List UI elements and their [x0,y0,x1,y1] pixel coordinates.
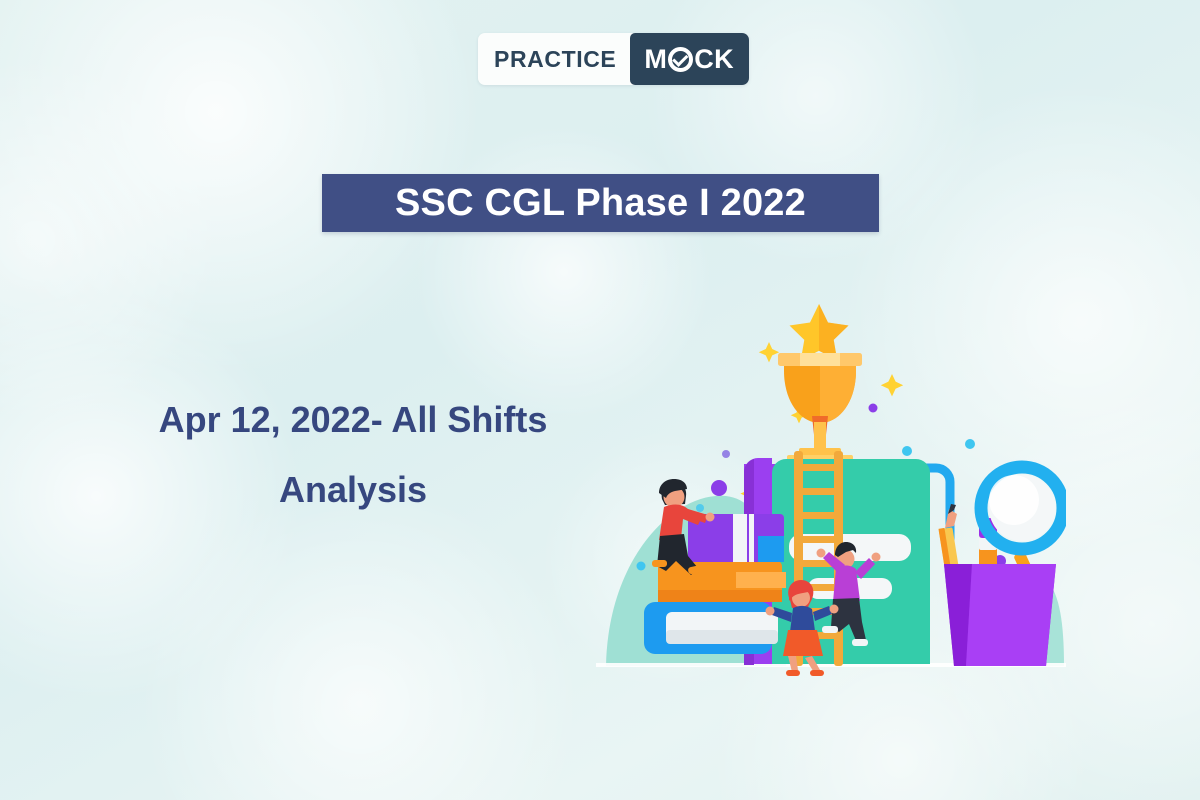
sparkle-star [759,342,779,362]
dot-blue [965,439,975,449]
person-shoe [822,626,838,633]
dot-purple [869,404,878,413]
book-stack-purple-pages [733,514,747,562]
trophy-group [778,304,862,465]
person-shoe [852,639,868,646]
logo-practice-text: PRACTICE [478,33,630,85]
ladder-rung [794,512,843,519]
trophy-bowl-highlight [820,361,856,423]
person-hand [817,549,826,558]
pencil-cup-front [966,564,1056,666]
ladder-rung [794,464,843,471]
person-hand [872,553,881,562]
person-top [790,606,815,632]
check-icon [672,50,688,66]
person-hand [830,605,839,614]
logo-mock-text: M CK [644,44,734,75]
trophy-star-shade [819,304,849,360]
book-stack-purple-accent [758,536,784,562]
exam-success-illustration [596,296,1066,686]
logo-mock-prefix: M [644,44,667,75]
trophy-rim-light [800,353,840,366]
sparkle-star [881,374,903,396]
check-in-circle-icon [668,47,693,72]
subtitle-line-1: Apr 12, 2022- All Shifts [78,385,628,455]
person-shoe [786,670,800,676]
book-stack-purple-pages-2 [749,514,754,562]
person-hand [766,607,775,616]
dot-blue [637,562,646,571]
title-banner: SSC CGL Phase I 2022 [322,174,879,232]
book-stack-orange-label [736,572,786,588]
poster-canvas: PRACTICE M CK SSC CGL Phase I 2022 Apr 1… [0,0,1200,800]
magnifying-glass [981,467,1063,549]
person-hand [706,513,715,522]
page-title: SSC CGL Phase I 2022 [395,182,806,225]
dot-blue [696,504,704,512]
ladder-rung [794,488,843,495]
logo-mock-block: M CK [630,33,749,85]
magnifier-lens-highlight [989,475,1039,525]
practicemock-logo[interactable]: PRACTICE M CK [478,33,749,85]
book-stack-blue-pages-shade [666,630,778,644]
ladder-rung [794,536,843,543]
person-skirt [783,630,823,656]
person-shoe [810,670,824,676]
subtitle-block: Apr 12, 2022- All Shifts Analysis [78,385,628,525]
subtitle-line-2: Analysis [78,455,628,525]
dot-blue [902,446,912,456]
dot-purple [711,480,727,496]
book-stack-orange-shade [658,590,782,602]
logo-mock-suffix: CK [694,44,734,75]
person-shoe [652,560,667,567]
dot-purple [722,450,730,458]
trophy-stem [814,422,826,450]
